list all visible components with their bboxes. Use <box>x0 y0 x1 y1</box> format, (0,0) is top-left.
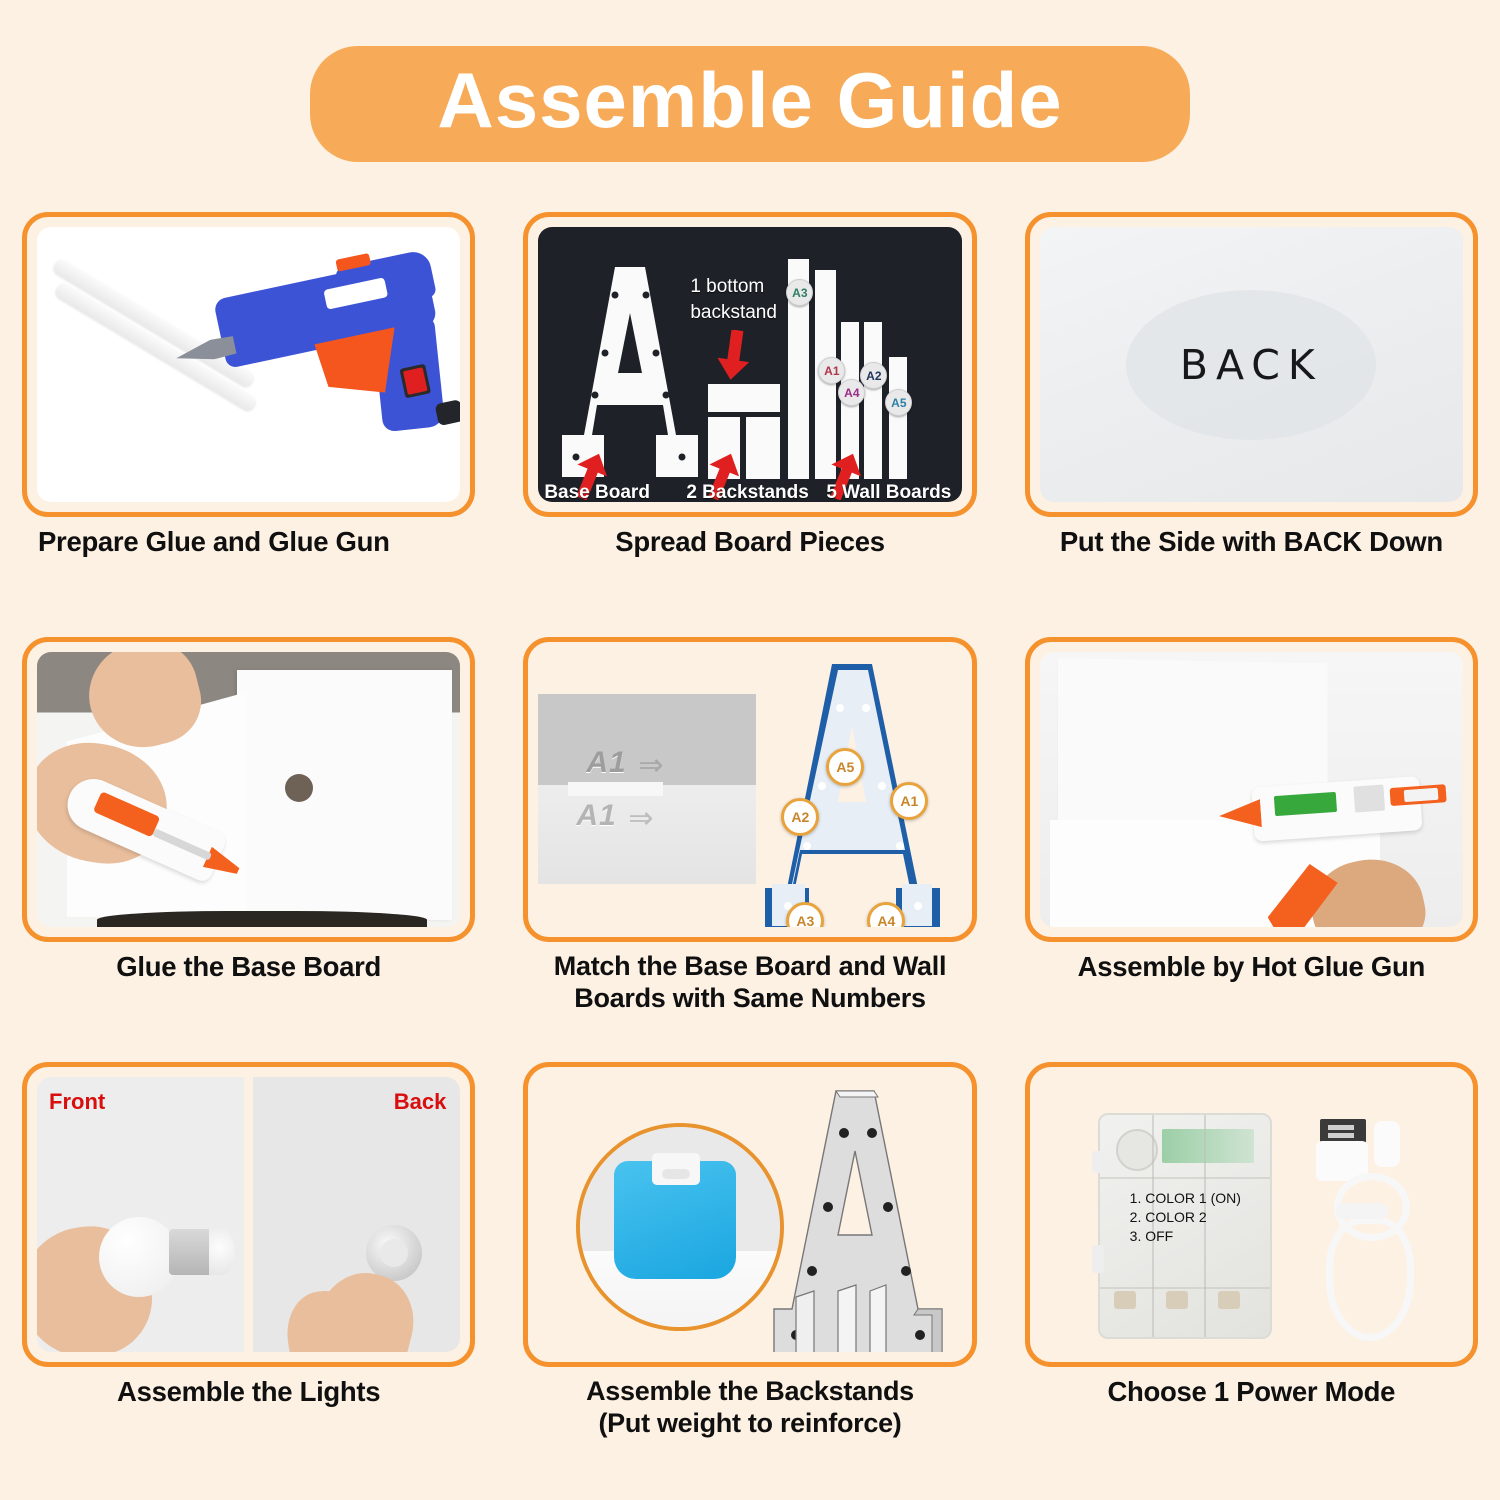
letter-a-base-board-icon <box>560 265 700 480</box>
step-5-image-panel: A1 ⇒ A1 ⇒ <box>523 637 976 942</box>
step-5-caption-line2: Boards with Same Numbers <box>523 983 976 1015</box>
step-4-photo <box>37 652 460 927</box>
step-card-5: A1 ⇒ A1 ⇒ <box>523 637 976 1062</box>
step-7-photo: Front Back <box>37 1077 460 1352</box>
step-4-caption: Glue the Base Board <box>22 951 475 983</box>
step-1-caption: Prepare Glue and Glue Gun <box>22 526 475 558</box>
step-card-3: BACK Put the Side with BACK Down <box>1025 212 1478 637</box>
step-2-image-panel: A3 A1 A2 A4 A5 1 bottom backstand <box>523 212 976 517</box>
step-card-8: Assemble the Backstands (Put weight to r… <box>523 1062 976 1487</box>
step-5-caption-line1: Match the Base Board and Wall <box>523 951 976 983</box>
backstand-piece <box>708 384 780 412</box>
led-bulb-icon <box>99 1217 179 1297</box>
back-label: Back <box>394 1089 447 1115</box>
step-card-1: Prepare Glue and Glue Gun <box>22 212 475 637</box>
light-hole-icon <box>285 774 313 802</box>
step-1-image-panel <box>22 212 475 517</box>
step-8-photo <box>538 1077 961 1352</box>
step-card-2: A3 A1 A2 A4 A5 1 bottom backstand <box>523 212 976 637</box>
emboss-arrow-icon: ⇒ <box>638 748 663 783</box>
callout-bottom-backstand-line1: 1 bottom <box>690 275 764 299</box>
step-1-photo <box>37 227 460 502</box>
step-card-4: Glue the Base Board <box>22 637 475 1062</box>
step-9-image-panel: 1. COLOR 1 (ON) 2. COLOR 2 3. OFF <box>1025 1062 1478 1367</box>
power-mode-3: 3. OFF <box>1130 1227 1174 1246</box>
page-header: Assemble Guide <box>0 46 1500 162</box>
step-7-image-panel: Front Back <box>22 1062 475 1367</box>
wall-board <box>237 670 452 920</box>
diagram-label-base-board: Base Board <box>544 482 650 502</box>
title-pill: Assemble Guide <box>310 46 1190 162</box>
wall-board-a2 <box>864 322 882 479</box>
wall-board-a5 <box>889 357 907 479</box>
callout-bottom-backstand-line2: backstand <box>690 301 777 325</box>
step-9-photo: 1. COLOR 1 (ON) 2. COLOR 2 3. OFF <box>1040 1077 1463 1352</box>
usb-cable-icon <box>1298 1107 1448 1347</box>
step-8-caption-line2: (Put weight to reinforce) <box>523 1408 976 1440</box>
step-6-photo <box>1040 652 1463 927</box>
red-arrow-icon <box>718 330 754 382</box>
step-9-caption: Choose 1 Power Mode <box>1025 1376 1478 1408</box>
circuit-board <box>1162 1129 1254 1163</box>
emboss-label-a1: A1 <box>576 799 616 833</box>
battery-box-icon: 1. COLOR 1 (ON) 2. COLOR 2 3. OFF <box>1098 1113 1272 1339</box>
step-4-image-panel <box>22 637 475 942</box>
step-3-image-panel: BACK <box>1025 212 1478 517</box>
letter-a-with-backstands-icon <box>766 1085 946 1352</box>
power-mode-2: 2. COLOR 2 <box>1130 1208 1207 1227</box>
backstand-piece <box>746 417 780 479</box>
diagram-label-backstands: 2 Backstands <box>686 482 809 502</box>
step-8-caption-line1: Assemble the Backstands <box>523 1376 976 1408</box>
water-bag-inset <box>576 1123 784 1331</box>
bulb-base-icon <box>169 1229 213 1275</box>
step-5-caption: Match the Base Board and Wall Boards wit… <box>523 951 976 1015</box>
glue-gun-label <box>1273 792 1336 816</box>
step-card-9: 1. COLOR 1 (ON) 2. COLOR 2 3. OFF Choose <box>1025 1062 1478 1487</box>
step-8-caption: Assemble the Backstands (Put weight to r… <box>523 1376 976 1440</box>
step-5-photo: A1 ⇒ A1 ⇒ <box>538 652 961 927</box>
diagram-label-wall-boards: 5 Wall Boards <box>826 482 951 502</box>
step-card-7: Front Back Assemble the Lights <box>22 1062 475 1487</box>
step-card-6: Assemble by Hot Glue Gun <box>1025 637 1478 1062</box>
power-mode-1: 1. COLOR 1 (ON) <box>1130 1189 1241 1208</box>
page-title: Assemble Guide <box>437 60 1062 142</box>
back-board-text: BACK <box>1180 341 1323 389</box>
emboss-arrow-icon: ⇒ <box>628 801 653 836</box>
embossed-board-photo: A1 ⇒ A1 ⇒ <box>538 694 756 884</box>
step-6-image-panel <box>1025 637 1478 942</box>
step-3-photo: BACK <box>1040 227 1463 502</box>
emboss-label-a1: A1 <box>586 746 626 780</box>
step-2-diagram: A3 A1 A2 A4 A5 1 bottom backstand <box>538 227 961 502</box>
steps-grid: Prepare Glue and Glue Gun <box>22 212 1478 1487</box>
step-7-caption: Assemble the Lights <box>22 1376 475 1408</box>
step-6-caption: Assemble by Hot Glue Gun <box>1025 951 1478 983</box>
step-3-caption: Put the Side with BACK Down <box>1025 526 1478 558</box>
front-label: Front <box>49 1089 105 1115</box>
step-8-image-panel <box>523 1062 976 1367</box>
step-2-caption: Spread Board Pieces <box>523 526 976 558</box>
